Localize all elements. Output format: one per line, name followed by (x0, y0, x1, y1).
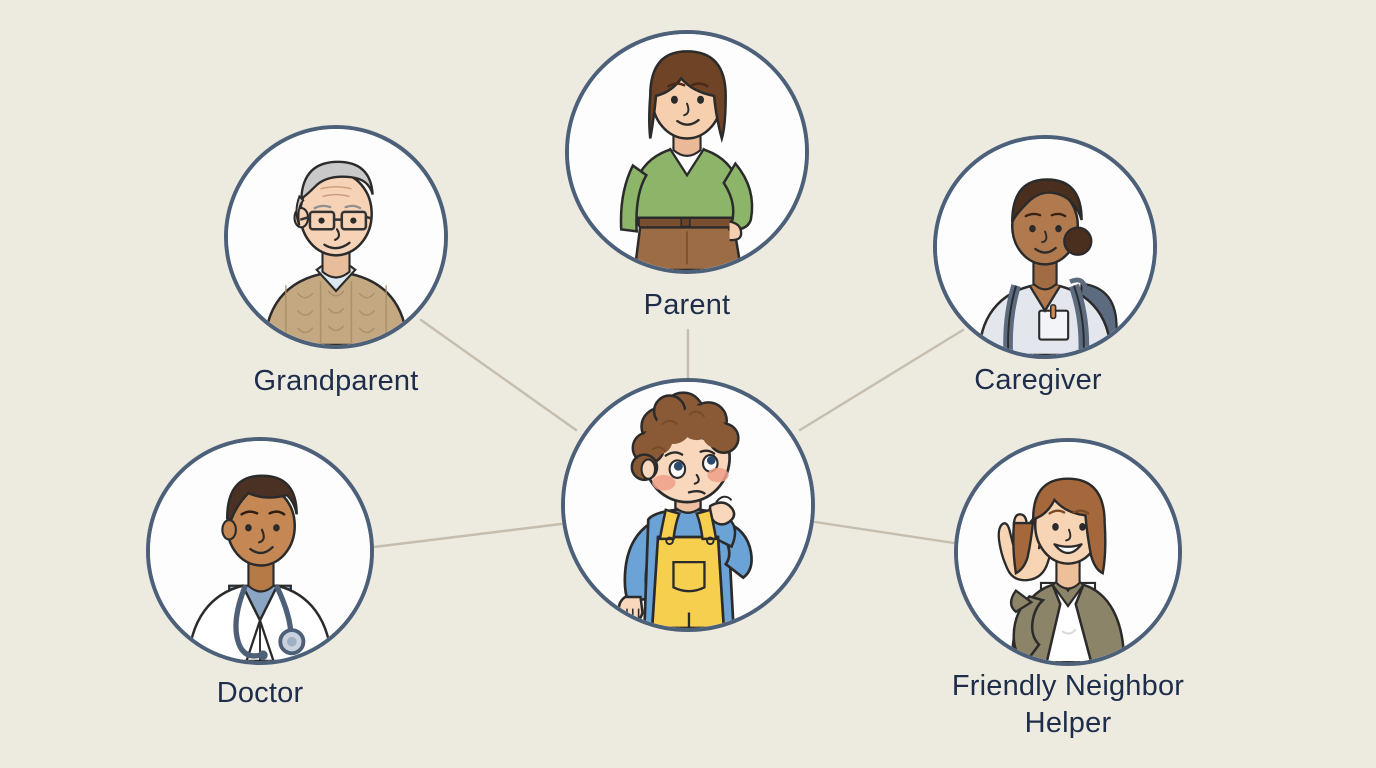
avatar-parent[interactable] (565, 30, 809, 274)
label-doctor: Doctor (110, 675, 410, 712)
label-grandparent: Grandparent (176, 363, 496, 400)
doctor-illustration (150, 441, 370, 661)
child-illustration (565, 382, 811, 628)
parent-illustration (569, 34, 805, 270)
connector-friendly-neighbor-helper-to-child (815, 522, 954, 543)
friendly-neighbor-helper-illustration (958, 442, 1178, 662)
avatar-child-center[interactable] (561, 378, 815, 632)
caregiver-illustration (937, 139, 1153, 355)
support-network-diagram: Grandparent (0, 0, 1376, 768)
avatar-grandparent[interactable] (224, 125, 448, 349)
label-parent: Parent (537, 287, 837, 324)
avatar-doctor[interactable] (146, 437, 374, 665)
connector-doctor-to-child (374, 524, 561, 547)
label-friendly-neighbor-helper: Friendly Neighbor Helper (888, 668, 1248, 742)
grandparent-illustration (228, 129, 444, 345)
label-caregiver: Caregiver (878, 362, 1198, 399)
avatar-caregiver[interactable] (933, 135, 1157, 359)
avatar-friendly-neighbor-helper[interactable] (954, 438, 1182, 666)
